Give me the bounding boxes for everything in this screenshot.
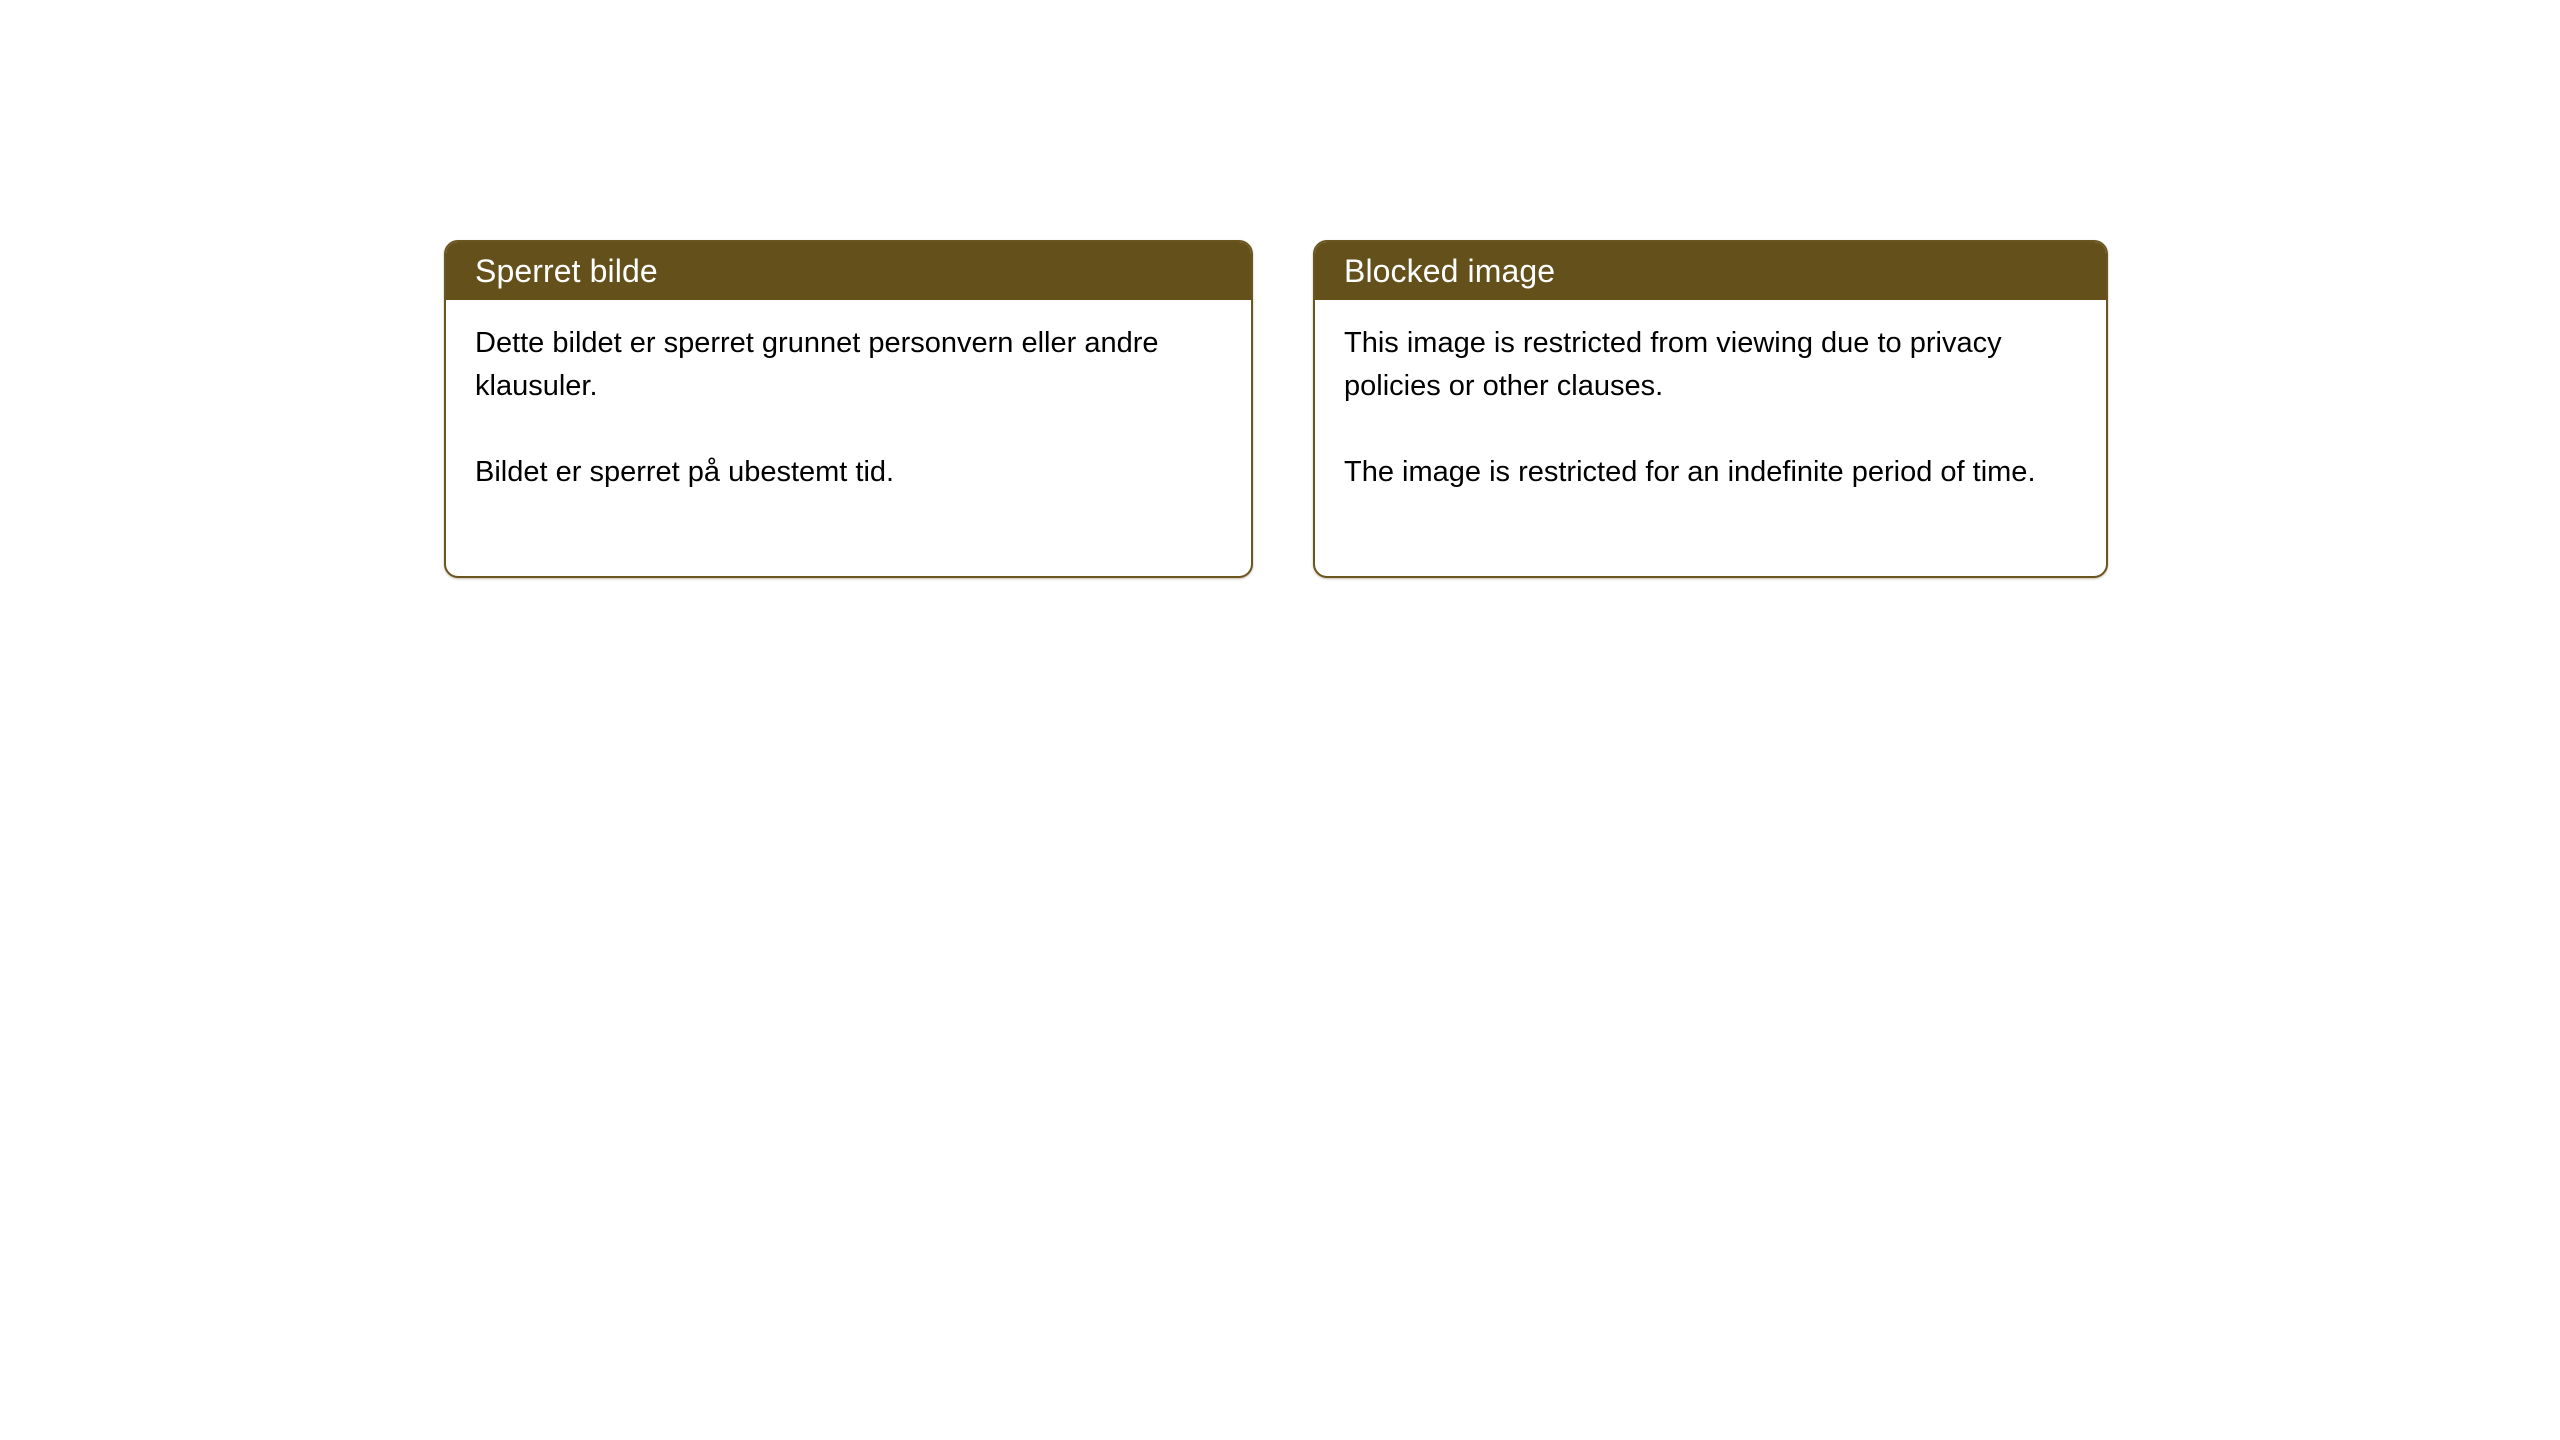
card-paragraph-primary-english: This image is restricted from viewing du… [1344,322,2080,408]
blocked-image-card-english: Blocked image This image is restricted f… [1313,240,2108,578]
card-paragraph-secondary-english: The image is restricted for an indefinit… [1344,451,2080,494]
blocked-image-card-norwegian: Sperret bilde Dette bildet er sperret gr… [444,240,1253,578]
blocked-image-notice-group: Sperret bilde Dette bildet er sperret gr… [444,240,2108,578]
card-title-norwegian: Sperret bilde [475,255,658,287]
card-paragraph-primary-norwegian: Dette bildet er sperret grunnet personve… [475,322,1225,408]
card-header-english: Blocked image [1315,242,2106,300]
card-body-norwegian: Dette bildet er sperret grunnet personve… [446,300,1251,576]
card-title-english: Blocked image [1344,255,1555,287]
paragraph-spacer-english [1344,408,2080,451]
paragraph-spacer-norwegian [475,408,1225,451]
card-paragraph-secondary-norwegian: Bildet er sperret på ubestemt tid. [475,451,1225,494]
card-header-norwegian: Sperret bilde [446,242,1251,300]
card-body-english: This image is restricted from viewing du… [1315,300,2106,576]
